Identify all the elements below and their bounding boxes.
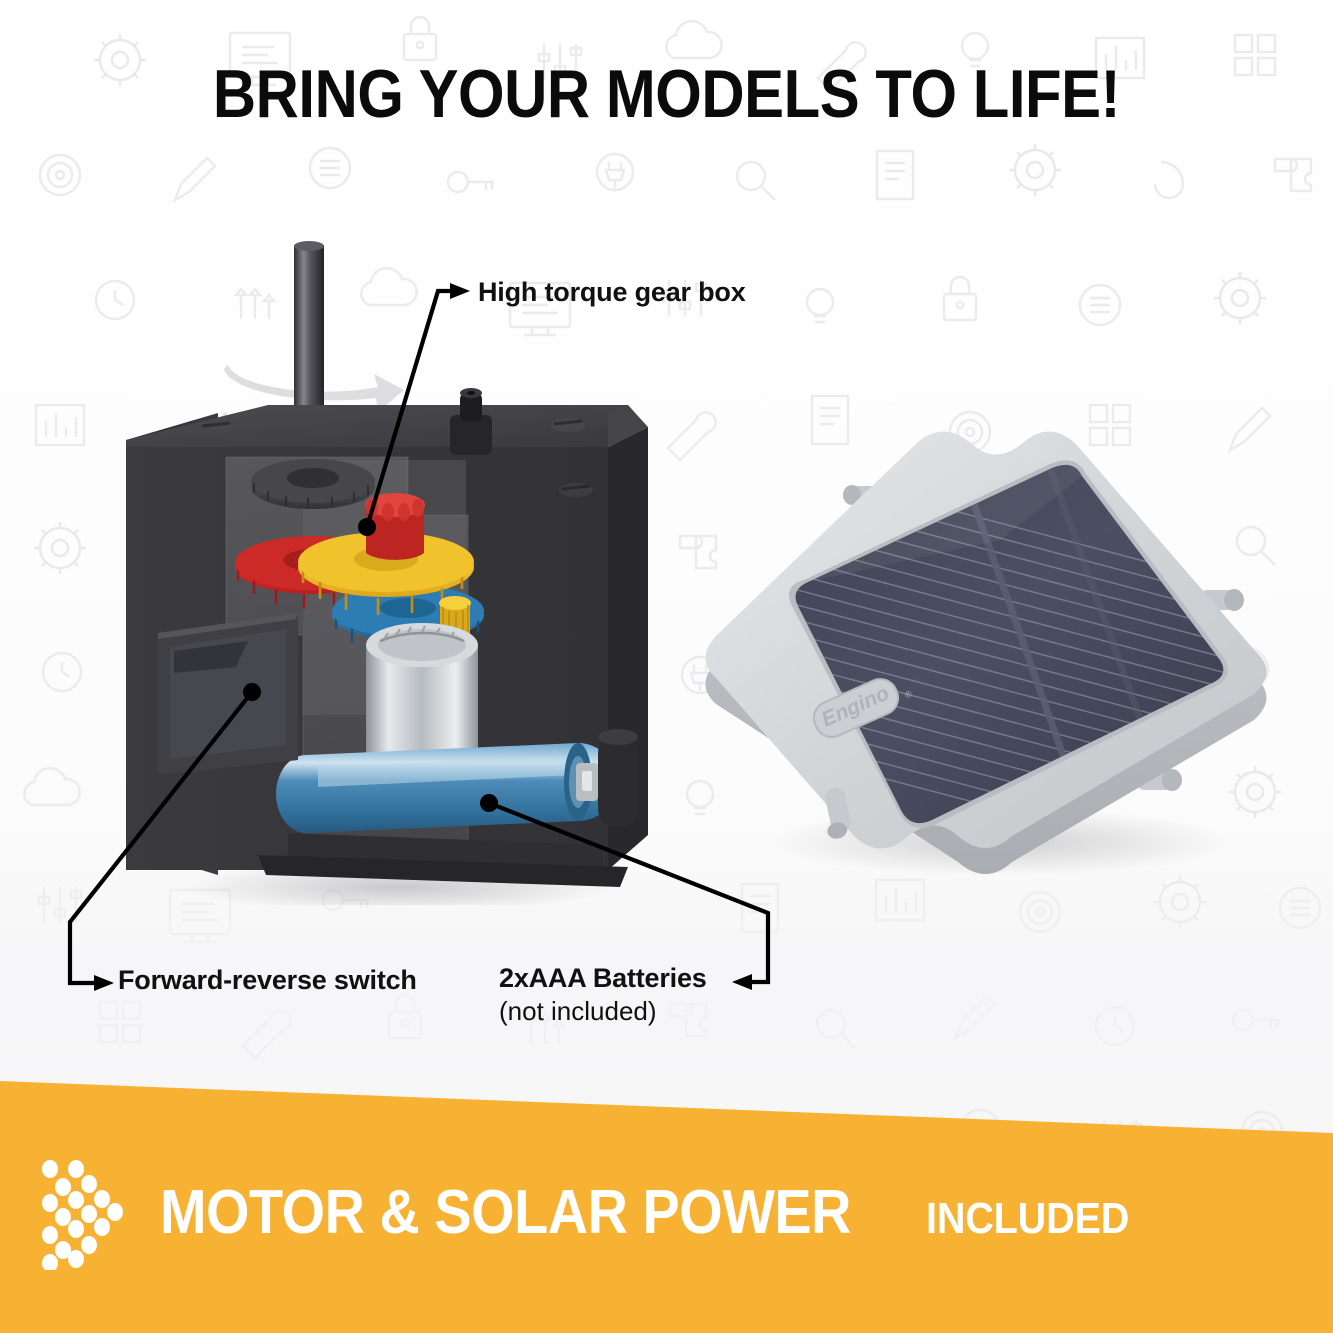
callout-battery-label: 2xAAA Batteries xyxy=(499,962,707,994)
bottom-banner: MOTOR & SOLAR POWERINCLUDED xyxy=(0,1060,1333,1333)
callout-switch-label: Forward-reverse switch xyxy=(118,964,417,996)
callout-switch: Forward-reverse switch xyxy=(118,964,417,996)
callout-gearbox-label: High torque gear box xyxy=(478,276,746,308)
infographic-canvas: BRING YOUR MODELS TO LIFE! xyxy=(0,0,1333,1333)
banner-main-text: MOTOR & SOLAR POWER xyxy=(160,1177,851,1248)
gear-dark-top xyxy=(251,459,375,509)
leader-arrow-battery xyxy=(732,974,752,990)
geared-motor-unit xyxy=(108,215,668,905)
chevron-dots-icon xyxy=(38,1155,138,1270)
banner-sub-text: INCLUDED xyxy=(926,1194,1129,1244)
callout-battery: 2xAAA Batteries (not included) xyxy=(499,962,707,1028)
leader-arrow-switch xyxy=(94,975,114,991)
solar-panel-module: Engino ® xyxy=(700,390,1300,890)
callout-battery-sublabel: (not included) xyxy=(499,994,707,1028)
gear-red-pinion xyxy=(365,493,425,560)
connector-post xyxy=(450,388,492,455)
page-title: BRING YOUR MODELS TO LIFE! xyxy=(80,58,1253,130)
banner-text-group: MOTOR & SOLAR POWERINCLUDED xyxy=(160,1177,1152,1248)
forward-reverse-switch[interactable] xyxy=(158,613,298,775)
callout-gearbox: High torque gear box xyxy=(478,276,746,308)
battery-aaa xyxy=(276,727,617,833)
side-peg xyxy=(598,729,638,827)
